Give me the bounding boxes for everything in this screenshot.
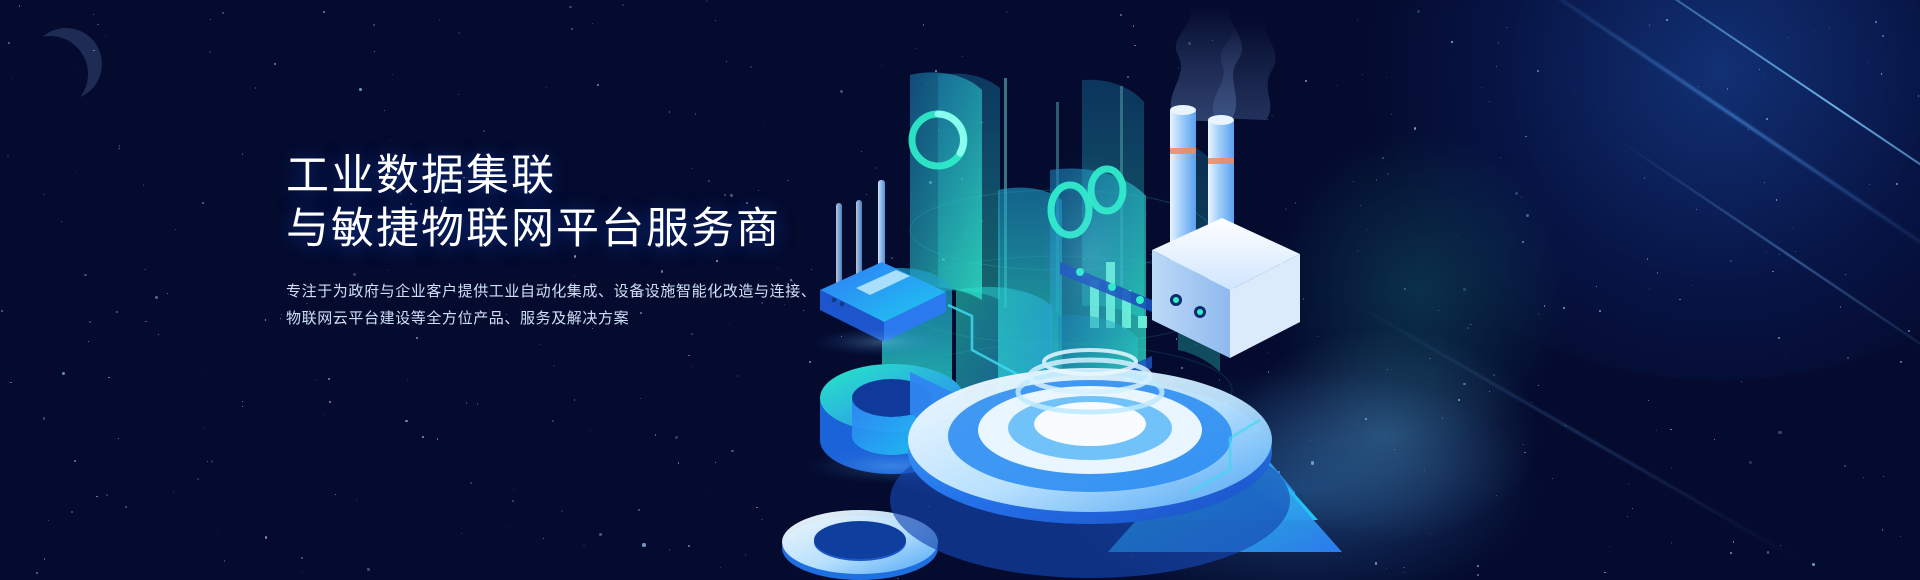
smoke-plume <box>1171 6 1276 122</box>
iot-illustration <box>760 0 1920 580</box>
crescent-moon-icon <box>30 28 102 100</box>
hero-banner: 工业数据集联 与敏捷物联网平台服务商 专注于为政府与企业客户提供工业自动化集成、… <box>0 0 1920 580</box>
